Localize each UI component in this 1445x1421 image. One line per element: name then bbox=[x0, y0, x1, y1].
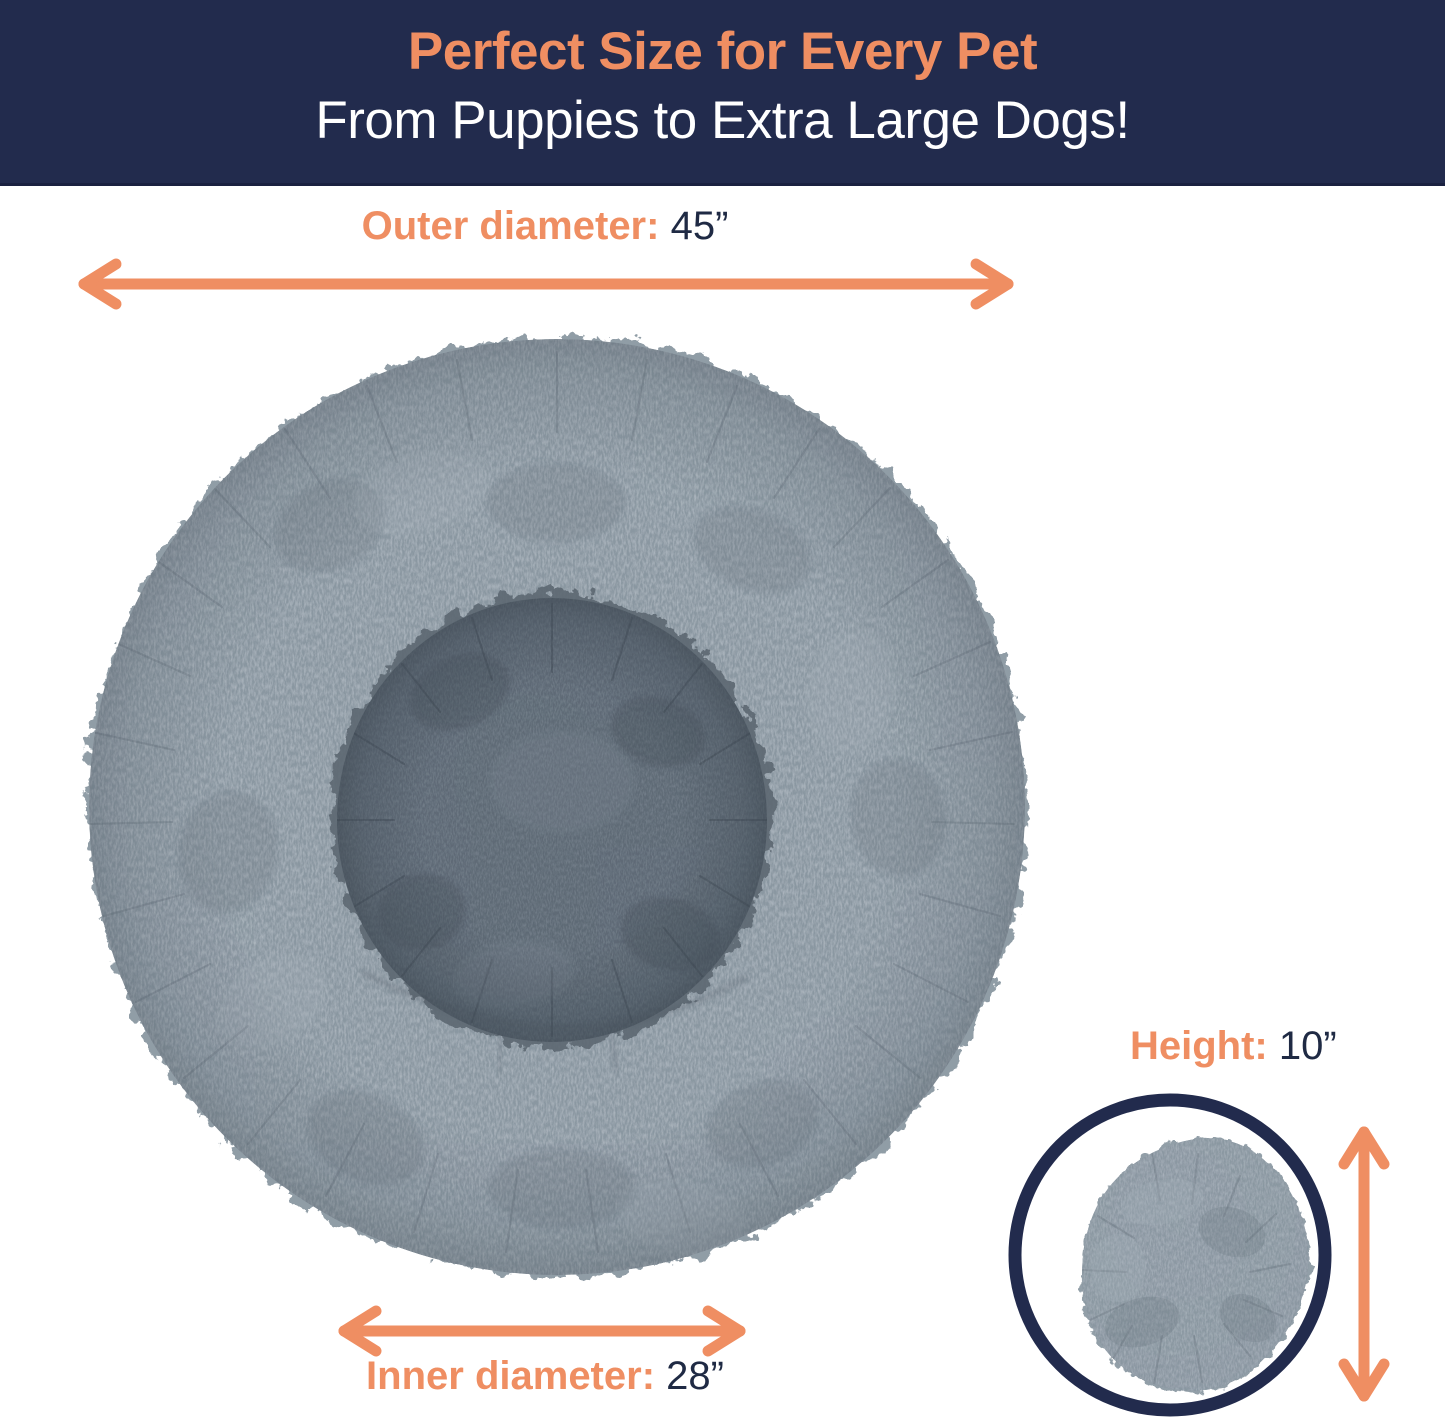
inner-diameter-value: 28” bbox=[666, 1354, 724, 1398]
pet-bed-top-view-illustration bbox=[62, 312, 1052, 1302]
banner-title: Perfect Size for Every Pet bbox=[0, 23, 1445, 81]
inner-diameter-label-text: Inner diameter: bbox=[366, 1354, 655, 1398]
height-value: 10” bbox=[1279, 1024, 1337, 1068]
pet-bed-side-view-inset bbox=[1002, 1092, 1342, 1421]
pet-bed-top-view bbox=[62, 312, 1052, 1302]
height-arrow-icon bbox=[1338, 1118, 1390, 1410]
inner-diameter-arrow-icon bbox=[330, 1305, 754, 1357]
height-label-text: Height: bbox=[1130, 1024, 1268, 1068]
header-underline bbox=[0, 183, 1445, 186]
outer-diameter-arrow-icon bbox=[70, 258, 1022, 310]
height-label: Height: 10” bbox=[1000, 1026, 1420, 1066]
outer-diameter-label: Outer diameter: 45” bbox=[0, 206, 1090, 246]
banner-subtitle: From Puppies to Extra Large Dogs! bbox=[0, 92, 1445, 150]
pet-bed-side-view-illustration bbox=[1002, 1092, 1342, 1421]
infographic-page: Perfect Size for Every Pet From Puppies … bbox=[0, 0, 1445, 1421]
inner-diameter-label: Inner diameter: 28” bbox=[0, 1356, 1090, 1396]
outer-diameter-value: 45” bbox=[671, 204, 729, 248]
outer-diameter-label-text: Outer diameter: bbox=[362, 204, 660, 248]
